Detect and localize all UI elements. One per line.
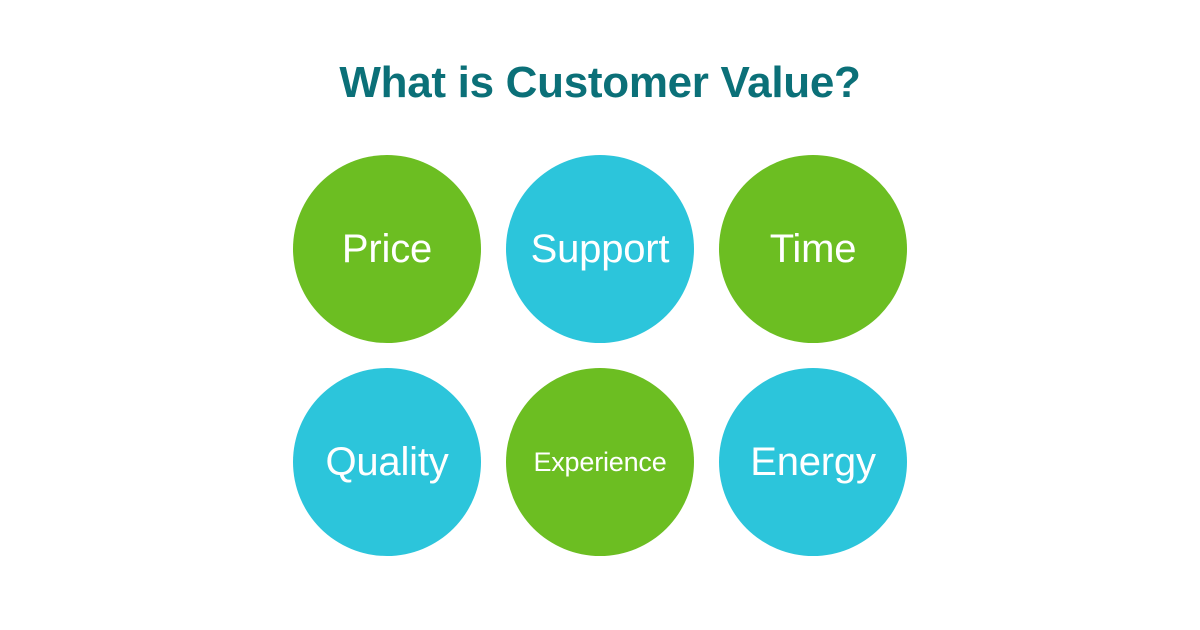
customer-value-bubble-grid: Price Support Time Quality Experience En… [293,155,907,556]
bubble-support: Support [506,155,694,343]
bubble-label-time: Time [770,229,857,269]
bubble-time: Time [719,155,907,343]
bubble-label-quality: Quality [325,442,448,482]
page-title: What is Customer Value? [0,58,1200,109]
bubble-label-experience: Experience [533,449,666,476]
bubble-label-price: Price [342,229,432,269]
bubble-label-support: Support [531,229,670,269]
bubble-energy: Energy [719,368,907,556]
bubble-experience: Experience [506,368,694,556]
bubble-quality: Quality [293,368,481,556]
bubble-label-energy: Energy [750,442,876,482]
infographic-poster: What is Customer Value? Price Support Ti… [0,0,1200,630]
bubble-price: Price [293,155,481,343]
